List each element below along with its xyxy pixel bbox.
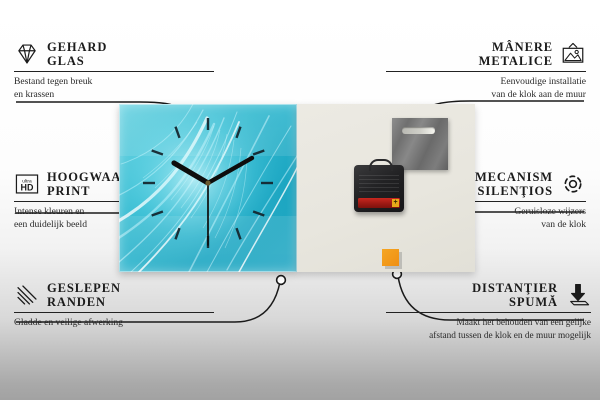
hour-hand — [174, 163, 208, 183]
clock-mechanism-box: + — [354, 165, 404, 212]
feature-rule — [386, 71, 586, 72]
feature-title-line2: RANDEN — [47, 295, 121, 309]
picture-frame-icon — [560, 41, 586, 67]
feature-title-line2: SILENŢIOS — [475, 184, 553, 198]
mechanism-ridges — [359, 175, 399, 193]
feature-title-line2: METALICE — [479, 54, 553, 68]
product-front-panel — [119, 104, 297, 272]
gear-icon — [560, 171, 586, 197]
minute-hand — [208, 158, 252, 183]
hanger-keyhole-slot — [402, 127, 435, 134]
ultra-hd-icon: ultra HD — [14, 171, 40, 197]
battery-plus-terminal: + — [392, 199, 399, 207]
feature-subtitle: Eenvoudige installatie van de klok aan d… — [386, 76, 586, 102]
connector-dot-polished-edges — [277, 276, 286, 285]
foam-spacer-square — [382, 249, 399, 266]
diagonal-lines-icon — [14, 282, 40, 308]
feature-foam-spacer: DISTANŢIER SPUMĂ Maakt het behouden van … — [386, 281, 591, 342]
feature-title-line1: MÂNERE — [479, 40, 553, 54]
clock-center-cap — [205, 180, 210, 185]
feature-subtitle: Maakt het behouden van een gelijke afsta… — [386, 317, 591, 342]
battery: + — [358, 198, 400, 208]
feature-polished-edges: GESLEPEN RANDEN Gladde en veilige afwerk… — [14, 281, 214, 330]
feature-rule — [386, 312, 591, 313]
ultra-hd-icon-bottom: HD — [21, 183, 34, 193]
feature-rule — [14, 312, 214, 313]
feature-tempered-glass: GEHARD GLAS Bestand tegen breuk en krass… — [14, 40, 214, 102]
mechanism-hanging-loop — [369, 159, 393, 171]
feature-subtitle: Gladde en veilige afwerking — [14, 317, 214, 330]
feature-title-line1: MECANISM — [475, 170, 553, 184]
clock-dial — [119, 104, 297, 272]
feature-title-line1: DISTANŢIER — [472, 281, 558, 295]
diamond-icon — [14, 41, 40, 67]
feature-rule — [14, 71, 214, 72]
feature-title-line1: GEHARD — [47, 40, 107, 54]
product-back-panel: + — [297, 104, 475, 272]
down-arrow-block-icon — [565, 282, 591, 308]
infographic-canvas: GEHARD GLAS Bestand tegen breuk en krass… — [0, 0, 600, 400]
feature-title-line1: GESLEPEN — [47, 281, 121, 295]
feature-title-line2: GLAS — [47, 54, 107, 68]
feature-subtitle: Bestand tegen breuk en krassen — [14, 76, 214, 102]
feature-title-line2: SPUMĂ — [472, 295, 558, 309]
feature-metal-handles: MÂNERE METALICE Eenvoudige installatie v… — [386, 40, 586, 102]
metal-hanger-plate — [392, 118, 448, 170]
